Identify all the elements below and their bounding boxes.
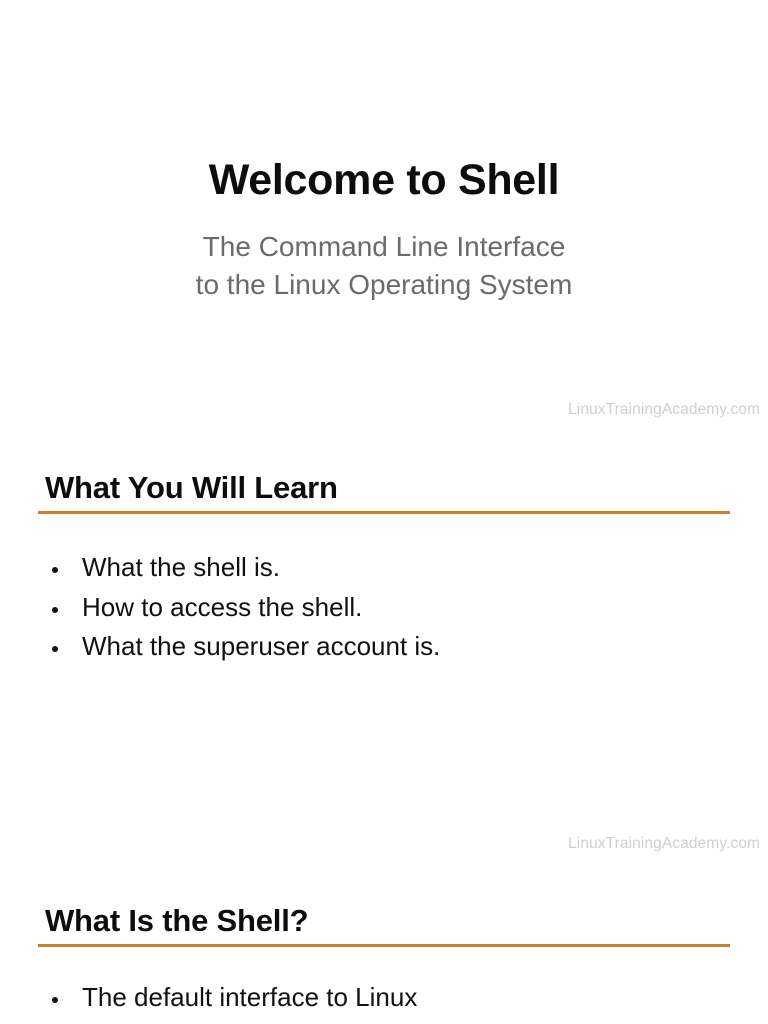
bullet-list-what-you-will-learn: What the shell is. How to access the she… [52, 548, 440, 667]
attribution-slide-1: LinuxTrainingAcademy.com [568, 401, 760, 419]
bullet-dot-icon [52, 567, 58, 573]
slide-heading-text: What You Will Learn [45, 470, 338, 507]
list-item: What the superuser account is. [52, 627, 440, 667]
list-item-label: What the shell is. [82, 548, 280, 588]
list-item-label: The default interface to Linux [82, 978, 417, 1018]
accent-rule-2 [38, 944, 730, 947]
deck-subtitle-line-2: to the Linux Operating System [0, 266, 768, 305]
list-item: The default interface to Linux [52, 978, 417, 1018]
list-item-label: What the superuser account is. [82, 627, 440, 667]
deck-subtitle: The Command Line Interface to the Linux … [0, 204, 768, 305]
slide-document: Welcome to Shell The Command Line Interf… [0, 0, 768, 1024]
slide-heading-what-is-the-shell: What Is the Shell? [45, 903, 308, 940]
bullet-list-what-is-the-shell: The default interface to Linux [52, 978, 417, 1018]
list-item-label: How to access the shell. [82, 588, 362, 628]
list-item: What the shell is. [52, 548, 440, 588]
deck-subtitle-line-1: The Command Line Interface [0, 228, 768, 267]
slide-heading-text: What Is the Shell? [45, 903, 308, 940]
slide-heading-what-you-will-learn: What You Will Learn [45, 470, 338, 507]
list-item: How to access the shell. [52, 588, 440, 628]
bullet-dot-icon [52, 607, 58, 613]
deck-title: Welcome to Shell [0, 158, 768, 204]
title-slide: Welcome to Shell The Command Line Interf… [0, 158, 768, 305]
accent-rule-1 [38, 511, 730, 514]
attribution-slide-2: LinuxTrainingAcademy.com [568, 835, 760, 853]
bullet-dot-icon [52, 646, 58, 652]
bullet-dot-icon [52, 997, 58, 1003]
